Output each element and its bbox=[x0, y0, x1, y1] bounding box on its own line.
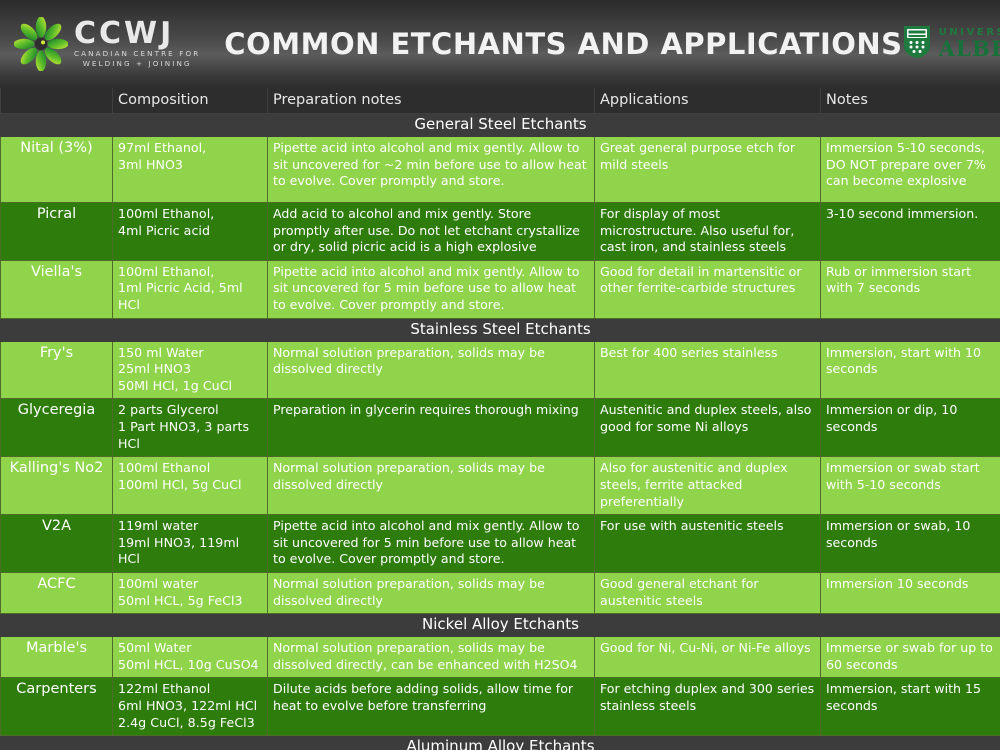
cell-line: 25ml HNO3 bbox=[118, 361, 262, 378]
table-row[interactable]: Carpenters122ml Ethanol6ml HNO3, 122ml H… bbox=[1, 678, 1000, 736]
cell-line: Immersion or swab start with 5-10 second… bbox=[826, 460, 995, 493]
cell-applications: Good for detail in martensitic or other … bbox=[595, 260, 821, 318]
cell-preparation: Add acid to alcohol and mix gently. Stor… bbox=[268, 203, 595, 261]
cell-line: 100ml Ethanol bbox=[118, 460, 262, 477]
cell-name: Carpenters bbox=[1, 678, 113, 736]
section-title: General Steel Etchants bbox=[1, 114, 1000, 137]
section-title: Nickel Alloy Etchants bbox=[1, 614, 1000, 637]
alberta-shield-icon bbox=[903, 25, 931, 63]
cell-line: 50ml HCL, 5g FeCl3 bbox=[118, 593, 262, 610]
cell-line: Fry's bbox=[4, 344, 109, 362]
cell-applications: Also for austenitic and duplex steels, f… bbox=[595, 457, 821, 515]
cell-applications: Good general etchant for austenitic stee… bbox=[595, 572, 821, 613]
table-row[interactable]: Nital (3%)97ml Ethanol,3ml HNO3Pipette a… bbox=[1, 137, 1000, 203]
ccwj-acronym: CCWJ bbox=[74, 19, 200, 49]
cell-line: Immersion or swab, 10 seconds bbox=[826, 518, 995, 551]
cell-line: For display of most microstructure. Also… bbox=[600, 206, 815, 256]
table-row[interactable]: Picral100ml Ethanol,4ml Picric acidAdd a… bbox=[1, 203, 1000, 261]
cell-line: 122ml Ethanol bbox=[118, 681, 262, 698]
cell-line: Austenitic and duplex steels, also good … bbox=[600, 402, 815, 435]
cell-preparation: Normal solution preparation, solids may … bbox=[268, 457, 595, 515]
cell-composition: 119ml water19ml HNO3, 119ml HCl bbox=[113, 515, 268, 573]
cell-line: 3-10 second immersion. bbox=[826, 206, 995, 223]
cell-line: 1ml Picric Acid, 5ml HCl bbox=[118, 280, 262, 313]
cell-line: Normal solution preparation, solids may … bbox=[273, 460, 589, 493]
ccwj-sunburst-logo-icon bbox=[14, 17, 68, 71]
cell-composition: 97ml Ethanol,3ml HNO3 bbox=[113, 137, 268, 203]
cell-line: Pipette acid into alcohol and mix gently… bbox=[273, 264, 589, 314]
cell-line: Normal solution preparation, solids may … bbox=[273, 345, 589, 378]
cell-notes: Immersion 5-10 seconds, DO NOT prepare o… bbox=[821, 137, 1000, 203]
cell-name: Nital (3%) bbox=[1, 137, 113, 203]
section-header-row: Stainless Steel Etchants bbox=[1, 318, 1000, 341]
ualberta-logo: UNIVERSITY OF ALBERTA bbox=[903, 25, 1000, 63]
cell-preparation: Pipette acid into alcohol and mix gently… bbox=[268, 260, 595, 318]
table-row[interactable]: ACFC100ml water50ml HCL, 5g FeCl3Normal … bbox=[1, 572, 1000, 613]
cell-name: Viella's bbox=[1, 260, 113, 318]
cell-composition: 100ml Ethanol,4ml Picric acid bbox=[113, 203, 268, 261]
ccwj-tagline-line2: WELDING + JOINING bbox=[74, 59, 200, 69]
cell-line: 6ml HNO3, 122ml HCl bbox=[118, 698, 262, 715]
cell-line: Immerse or swab for up to 60 seconds bbox=[826, 640, 995, 673]
cell-line: Picral bbox=[4, 205, 109, 223]
cell-applications: Best for 400 series stainless bbox=[595, 341, 821, 399]
cell-composition: 2 parts Glycerol1 Part HNO3, 3 parts HCl bbox=[113, 399, 268, 457]
ualberta-wordmark: UNIVERSITY OF ALBERTA bbox=[939, 28, 1000, 60]
cell-applications: For etching duplex and 300 series stainl… bbox=[595, 678, 821, 736]
cell-line: Normal solution preparation, solids may … bbox=[273, 640, 589, 673]
cell-line: Immersion 10 seconds bbox=[826, 576, 995, 593]
cell-line: Rub or immersion start with 7 seconds bbox=[826, 264, 995, 297]
cell-notes: Immersion 10 seconds bbox=[821, 572, 1000, 613]
cell-line: Add acid to alcohol and mix gently. Stor… bbox=[273, 206, 589, 256]
cell-line: Immersion or dip, 10 seconds bbox=[826, 402, 995, 435]
cell-line: Good for detail in martensitic or other … bbox=[600, 264, 815, 297]
cell-notes: Immersion or swab, 10 seconds bbox=[821, 515, 1000, 573]
cell-line: 97ml Ethanol, bbox=[118, 140, 262, 157]
cell-name: ACFC bbox=[1, 572, 113, 613]
cell-preparation: Dilute acids before adding solids, allow… bbox=[268, 678, 595, 736]
ccwj-wordmark: CCWJ CANADIAN CENTRE FOR WELDING + JOINI… bbox=[74, 19, 200, 68]
cell-line: Carpenters bbox=[4, 680, 109, 698]
cell-line: Normal solution preparation, solids may … bbox=[273, 576, 589, 609]
cell-line: 2.4g CuCl, 8.5g FeCl3 bbox=[118, 715, 262, 732]
page-header: CCWJ CANADIAN CENTRE FOR WELDING + JOINI… bbox=[0, 0, 1000, 88]
cell-line: Viella's bbox=[4, 263, 109, 281]
section-header-row: Nickel Alloy Etchants bbox=[1, 614, 1000, 637]
table-row[interactable]: Fry's150 ml Water25ml HNO350Ml HCl, 1g C… bbox=[1, 341, 1000, 399]
cell-applications: Austenitic and duplex steels, also good … bbox=[595, 399, 821, 457]
cell-line: 150 ml Water bbox=[118, 345, 262, 362]
section-title: Aluminum Alloy Etchants bbox=[1, 736, 1000, 750]
table-row[interactable]: V2A119ml water19ml HNO3, 119ml HClPipett… bbox=[1, 515, 1000, 573]
cell-line: Pipette acid into alcohol and mix gently… bbox=[273, 518, 589, 568]
table-row[interactable]: Viella's100ml Ethanol,1ml Picric Acid, 5… bbox=[1, 260, 1000, 318]
cell-line: Kalling's No2 bbox=[4, 459, 109, 477]
cell-composition: 100ml water50ml HCL, 5g FeCl3 bbox=[113, 572, 268, 613]
cell-preparation: Pipette acid into alcohol and mix gently… bbox=[268, 515, 595, 573]
cell-notes: Immersion or dip, 10 seconds bbox=[821, 399, 1000, 457]
cell-composition: 50ml Water50ml HCL, 10g CuSO4 bbox=[113, 637, 268, 678]
cell-applications: For use with austenitic steels bbox=[595, 515, 821, 573]
cell-line: 100ml water bbox=[118, 576, 262, 593]
cell-line: Dilute acids before adding solids, allow… bbox=[273, 681, 589, 714]
section-title: Stainless Steel Etchants bbox=[1, 318, 1000, 341]
cell-line: 100ml Ethanol, bbox=[118, 206, 262, 223]
cell-line: 119ml water bbox=[118, 518, 262, 535]
cell-name: Picral bbox=[1, 203, 113, 261]
page-title: COMMON ETCHANTS AND APPLICATIONS bbox=[200, 27, 902, 61]
cell-line: Immersion, start with 10 seconds bbox=[826, 345, 995, 378]
section-header-row: Aluminum Alloy Etchants bbox=[1, 736, 1000, 750]
table-row[interactable]: Marble's50ml Water50ml HCL, 10g CuSO4Nor… bbox=[1, 637, 1000, 678]
cell-preparation: Pipette acid into alcohol and mix gently… bbox=[268, 137, 595, 203]
cell-applications: Good for Ni, Cu-Ni, or Ni-Fe alloys bbox=[595, 637, 821, 678]
cell-notes: Immersion, start with 10 seconds bbox=[821, 341, 1000, 399]
etchants-table: CompositionPreparation notesApplications… bbox=[0, 88, 1000, 750]
cell-line: 50ml Water bbox=[118, 640, 262, 657]
column-header-applications: Applications bbox=[595, 88, 821, 114]
cell-composition: 150 ml Water25ml HNO350Ml HCl, 1g CuCl bbox=[113, 341, 268, 399]
cell-preparation: Normal solution preparation, solids may … bbox=[268, 341, 595, 399]
cell-name: Kalling's No2 bbox=[1, 457, 113, 515]
cell-notes: Rub or immersion start with 7 seconds bbox=[821, 260, 1000, 318]
cell-line: 100ml Ethanol, bbox=[118, 264, 262, 281]
column-header-row: CompositionPreparation notesApplications… bbox=[1, 88, 1000, 114]
cell-line: 50Ml HCl, 1g CuCl bbox=[118, 378, 262, 395]
cell-line: Nital (3%) bbox=[4, 139, 109, 157]
cell-notes: 3-10 second immersion. bbox=[821, 203, 1000, 261]
cell-preparation: Normal solution preparation, solids may … bbox=[268, 637, 595, 678]
cell-line: 19ml HNO3, 119ml HCl bbox=[118, 535, 262, 568]
cell-applications: For display of most microstructure. Also… bbox=[595, 203, 821, 261]
cell-line: 2 parts Glycerol bbox=[118, 402, 262, 419]
cell-line: Great general purpose etch for mild stee… bbox=[600, 140, 815, 173]
cell-line: Glyceregia bbox=[4, 401, 109, 419]
cell-line: Immersion, start with 15 seconds bbox=[826, 681, 995, 714]
ccwj-logo: CCWJ CANADIAN CENTRE FOR WELDING + JOINI… bbox=[14, 17, 200, 71]
table-row[interactable]: Kalling's No2100ml Ethanol100ml HCl, 5g … bbox=[1, 457, 1000, 515]
cell-line: For etching duplex and 300 series stainl… bbox=[600, 681, 815, 714]
cell-name: Fry's bbox=[1, 341, 113, 399]
cell-line: Best for 400 series stainless bbox=[600, 345, 815, 362]
ualberta-line2: ALBERTA bbox=[939, 38, 1000, 60]
cell-line: Preparation in glycerin requires thoroug… bbox=[273, 402, 589, 419]
cell-composition: 100ml Ethanol100ml HCl, 5g CuCl bbox=[113, 457, 268, 515]
cell-line: For use with austenitic steels bbox=[600, 518, 815, 535]
cell-line: Immersion 5-10 seconds, DO NOT prepare o… bbox=[826, 140, 995, 190]
cell-line: 3ml HNO3 bbox=[118, 157, 262, 174]
section-header-row: General Steel Etchants bbox=[1, 114, 1000, 137]
cell-notes: Immerse or swab for up to 60 seconds bbox=[821, 637, 1000, 678]
cell-line: Pipette acid into alcohol and mix gently… bbox=[273, 140, 589, 190]
ccwj-tagline-line1: CANADIAN CENTRE FOR bbox=[74, 49, 200, 59]
cell-line: Good for Ni, Cu-Ni, or Ni-Fe alloys bbox=[600, 640, 815, 657]
cell-line: 100ml HCl, 5g CuCl bbox=[118, 477, 262, 494]
cell-line: Good general etchant for austenitic stee… bbox=[600, 576, 815, 609]
column-header-blank bbox=[1, 88, 113, 114]
cell-name: V2A bbox=[1, 515, 113, 573]
cell-line: Also for austenitic and duplex steels, f… bbox=[600, 460, 815, 510]
cell-notes: Immersion, start with 15 seconds bbox=[821, 678, 1000, 736]
column-header-preparation-notes: Preparation notes bbox=[268, 88, 595, 114]
cell-applications: Great general purpose etch for mild stee… bbox=[595, 137, 821, 203]
cell-line: Marble's bbox=[4, 639, 109, 657]
cell-name: Glyceregia bbox=[1, 399, 113, 457]
cell-composition: 122ml Ethanol6ml HNO3, 122ml HCl2.4g CuC… bbox=[113, 678, 268, 736]
cell-composition: 100ml Ethanol,1ml Picric Acid, 5ml HCl bbox=[113, 260, 268, 318]
cell-line: 4ml Picric acid bbox=[118, 223, 262, 240]
cell-line: 50ml HCL, 10g CuSO4 bbox=[118, 657, 262, 674]
cell-name: Marble's bbox=[1, 637, 113, 678]
cell-preparation: Preparation in glycerin requires thoroug… bbox=[268, 399, 595, 457]
cell-line: V2A bbox=[4, 517, 109, 535]
column-header-composition: Composition bbox=[113, 88, 268, 114]
cell-line: ACFC bbox=[4, 575, 109, 593]
table-row[interactable]: Glyceregia2 parts Glycerol1 Part HNO3, 3… bbox=[1, 399, 1000, 457]
cell-line: 1 Part HNO3, 3 parts HCl bbox=[118, 419, 262, 452]
cell-preparation: Normal solution preparation, solids may … bbox=[268, 572, 595, 613]
cell-notes: Immersion or swab start with 5-10 second… bbox=[821, 457, 1000, 515]
column-header-notes: Notes bbox=[821, 88, 1000, 114]
